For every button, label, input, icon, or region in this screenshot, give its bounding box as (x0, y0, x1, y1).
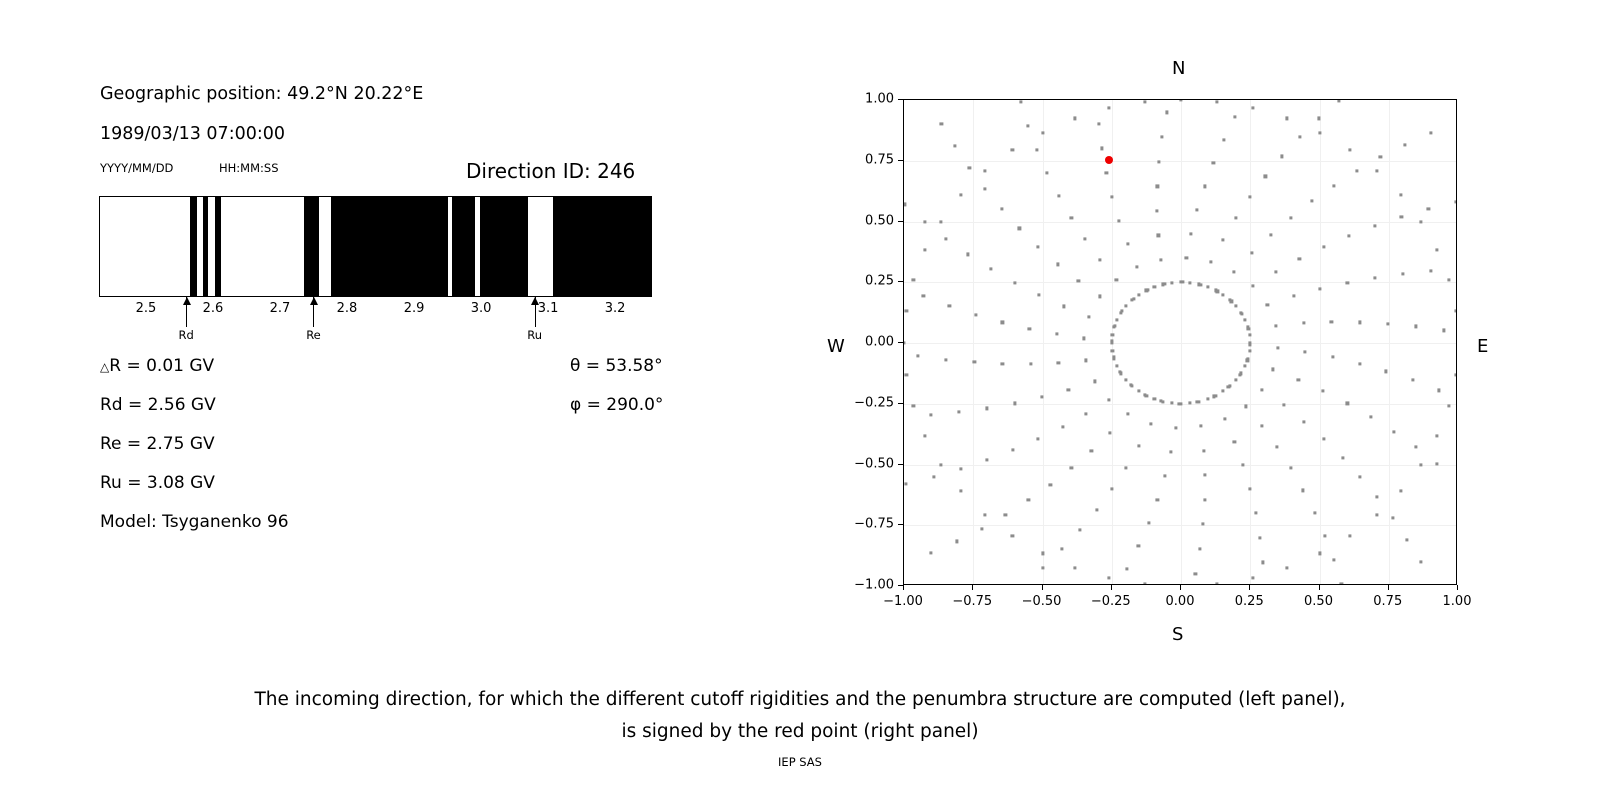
sky-map-direction-dot (1057, 194, 1060, 197)
sky-map-direction-dot (1340, 583, 1343, 585)
datetime-label: 1989/03/13 07:00:00 (100, 124, 285, 144)
sky-map-direction-dot (1221, 238, 1224, 241)
sky-map-direction-dot (1062, 305, 1065, 308)
sky-map-direction-dot (929, 413, 932, 416)
sky-map-direction-dot (1061, 425, 1064, 428)
sky-map-direction-dot (1322, 438, 1325, 441)
sky-map-direction-dot (1234, 378, 1237, 381)
sky-map-direction-dot (1401, 272, 1404, 275)
sky-map-direction-dot (1297, 378, 1300, 381)
sky-map-direction-dot (1373, 224, 1376, 227)
sky-map-direction-dot (967, 253, 970, 256)
sky-map-y-tick-mark (898, 281, 903, 282)
sky-map-x-tick-mark (1249, 585, 1250, 590)
sky-map-direction-dot (1318, 131, 1321, 134)
penumbra-forbidden-band (304, 197, 319, 296)
sky-map-direction-dot (984, 170, 987, 173)
sky-map-direction-dot (912, 404, 915, 407)
sky-map-direction-dot (986, 459, 989, 462)
sky-map-direction-dot (1179, 99, 1182, 102)
sky-map-direction-dot (1302, 489, 1305, 492)
penumbra-chart: 2.52.62.72.82.93.03.13.2RdReRu (99, 196, 652, 297)
caption-line-1: The incoming direction, for which the di… (0, 684, 1600, 716)
sky-map-direction-dot (1107, 398, 1110, 401)
sky-map-direction-dot (1001, 362, 1004, 365)
sky-map-gridline-vertical (1043, 100, 1044, 584)
sky-map-direction-dot (1414, 446, 1417, 449)
sky-map-direction-dot (1411, 379, 1414, 382)
sky-map-direction-dot (1212, 161, 1215, 164)
sky-map-x-tick-label: −1.00 (883, 594, 923, 609)
param-phi: φ = 290.0° (570, 395, 663, 415)
sky-map-direction-dot (1232, 270, 1235, 273)
sky-map-direction-dot (1201, 523, 1204, 526)
sky-map-direction-dot (1126, 413, 1129, 416)
sky-map-direction-dot (1170, 402, 1173, 405)
sky-map-direction-dot (1447, 404, 1450, 407)
sky-map-direction-dot (1056, 263, 1059, 266)
sky-map-direction-dot (1145, 289, 1148, 292)
penumbra-forbidden-band (452, 197, 475, 296)
sky-map-direction-dot (1272, 368, 1275, 371)
sky-map-direction-dot (1011, 449, 1014, 452)
sky-map-x-tick-mark (1111, 585, 1112, 590)
penumbra-forbidden-band (203, 197, 208, 296)
sky-map-direction-dot (1214, 394, 1217, 397)
sky-map-gridline-vertical (1389, 100, 1390, 584)
sky-map-direction-dot (1108, 576, 1111, 579)
sky-map-direction-dot (1391, 516, 1394, 519)
sky-map-x-tick-mark (1042, 585, 1043, 590)
date-format-hint: YYYY/MM/DD (100, 161, 173, 175)
sky-map-direction-dot (1194, 572, 1197, 575)
sky-map-direction-dot (1289, 467, 1292, 470)
sky-map-direction-dot (1061, 547, 1064, 550)
sky-map-direction-dot (1115, 318, 1118, 321)
sky-map-x-tick-mark (972, 585, 973, 590)
sky-map-direction-dot (1260, 425, 1263, 428)
sky-map-direction-dot (1027, 499, 1030, 502)
penumbra-x-tick-label: 3.1 (538, 301, 559, 316)
sky-map-direction-dot (1041, 131, 1044, 134)
sky-map-direction-dot (1090, 449, 1093, 452)
sky-map-direction-dot (1317, 117, 1320, 120)
sky-map-direction-dot (1233, 440, 1236, 443)
sky-map-direction-dot (1156, 185, 1159, 188)
sky-map-direction-dot (1222, 293, 1225, 296)
sky-map-direction-dot (1456, 480, 1457, 483)
sky-map-direction-dot (1248, 349, 1251, 352)
sky-map-direction-dot (1347, 234, 1350, 237)
sky-map-direction-dot (983, 187, 986, 190)
sky-map-direction-dot (1165, 111, 1168, 114)
sky-map-direction-dot (1244, 405, 1247, 408)
sky-map-direction-dot (1100, 147, 1103, 150)
sky-map-direction-dot (1435, 462, 1438, 465)
sky-map-gridline-vertical (1181, 100, 1182, 584)
sky-map-direction-dot (1406, 538, 1409, 541)
sky-map-direction-dot (1143, 582, 1146, 585)
sky-map-y-tick-mark (898, 99, 903, 100)
sky-map-direction-dot (1028, 327, 1031, 330)
sky-map-direction-dot (1375, 170, 1378, 173)
sky-map-x-tick-label: −0.25 (1091, 594, 1131, 609)
sky-map-direction-dot (1280, 155, 1283, 158)
sky-map-direction-dot (948, 304, 951, 307)
sky-map-direction-dot (1313, 511, 1316, 514)
sky-map-direction-dot (1269, 233, 1272, 236)
sky-map-y-tick-mark (898, 221, 903, 222)
sky-map-y-tick-mark (898, 160, 903, 161)
sky-map-direction-dot (1098, 295, 1101, 298)
sky-map-direction-dot (1359, 475, 1362, 478)
sky-map-direction-dot (1125, 466, 1128, 469)
cutoff-marker-label: Re (306, 328, 321, 342)
sky-map-direction-dot (1163, 474, 1166, 477)
sky-map-x-tick-mark (1457, 585, 1458, 590)
sky-map-direction-dot (1285, 117, 1288, 120)
sky-map-direction-dot (1233, 115, 1236, 118)
sky-map-direction-dot (1130, 384, 1133, 387)
sky-map-x-tick-mark (903, 585, 904, 590)
sky-map-direction-dot (1189, 232, 1192, 235)
sky-map-direction-dot (1170, 281, 1173, 284)
sky-map-direction-dot (1145, 394, 1148, 397)
sky-map-direction-dot (1419, 561, 1422, 564)
sky-map-direction-dot (1040, 396, 1043, 399)
penumbra-forbidden-band (331, 197, 448, 296)
compass-north-label: N (1172, 58, 1185, 79)
sky-map-y-tick-label: −0.25 (854, 395, 894, 410)
sky-map-y-tick-label: 0.50 (865, 213, 894, 228)
sky-map-y-tick-label: 0.75 (865, 152, 894, 167)
sky-map-direction-dot (1322, 245, 1325, 248)
sky-map-direction-dot (1099, 258, 1102, 261)
sky-map-direction-dot (1264, 175, 1267, 178)
sky-map-direction-dot (1454, 310, 1457, 313)
compass-west-label: W (827, 336, 845, 357)
sky-map-direction-dot (1404, 143, 1407, 146)
sky-map-direction-dot (1073, 566, 1076, 569)
sky-map-direction-dot (1126, 243, 1129, 246)
sky-map-direction-dot (1252, 285, 1255, 288)
sky-map-x-tick-label: −0.75 (952, 594, 992, 609)
penumbra-x-tick-label: 3.2 (605, 301, 626, 316)
selected-direction-point[interactable] (1105, 156, 1113, 164)
sky-map-direction-dot (1206, 398, 1209, 401)
cutoff-marker-ru (535, 297, 536, 327)
sky-map-direction-dot (1274, 271, 1277, 274)
penumbra-forbidden-band (215, 197, 221, 296)
delta-r-text: R = 0.01 GV (109, 356, 214, 376)
sky-map-direction-dot (1161, 283, 1164, 286)
sky-map-direction-dot (1136, 266, 1139, 269)
sky-map-direction-dot (1375, 495, 1378, 498)
penumbra-x-axis: 2.52.62.72.82.93.03.13.2RdReRu (99, 297, 652, 357)
sky-map-direction-dot (903, 203, 906, 206)
sky-map-direction-dot (1137, 545, 1140, 548)
penumbra-x-tick-label: 2.9 (404, 301, 425, 316)
sky-map-direction-dot (1161, 400, 1164, 403)
sky-map-direction-dot (917, 354, 920, 357)
sky-map-direction-dot (1199, 425, 1202, 428)
sky-map-direction-dot (1118, 219, 1121, 222)
sky-map-x-tick-label: 0.50 (1304, 594, 1333, 609)
sky-map-direction-dot (1248, 487, 1251, 490)
sky-map-direction-dot (1119, 311, 1122, 314)
sky-map-gridline-vertical (1320, 100, 1321, 584)
sky-map-direction-dot (1303, 420, 1306, 423)
sky-map-direction-dot (1087, 315, 1090, 318)
sky-map-direction-dot (1282, 403, 1285, 406)
sky-map-direction-dot (1379, 156, 1382, 159)
sky-map-direction-dot (1241, 464, 1244, 467)
sky-map-direction-dot (1254, 511, 1257, 514)
sky-map-direction-dot (922, 294, 925, 297)
sky-map-y-tick-mark (898, 464, 903, 465)
sky-map-direction-dot (1419, 220, 1422, 223)
sky-map-direction-dot (1246, 326, 1249, 329)
sky-map-direction-dot (940, 220, 943, 223)
sky-map-y-tick-label: 0.00 (865, 335, 894, 350)
param-rd: Rd = 2.56 GV (100, 395, 216, 415)
compass-south-label: S (1172, 624, 1183, 645)
sky-map-direction-dot (923, 434, 926, 437)
sky-map-direction-dot (929, 552, 932, 555)
sky-map-direction-dot (1203, 185, 1206, 188)
sky-map-direction-dot (1027, 124, 1030, 127)
sky-map-direction-dot (968, 166, 971, 169)
sky-map-direction-dot (1000, 208, 1003, 211)
sky-map-direction-dot (1084, 412, 1087, 415)
sky-map-direction-dot (1097, 122, 1100, 125)
geographic-position-label: Geographic position: 49.2°N 20.22°E (100, 84, 423, 104)
sky-map-direction-dot (1249, 341, 1252, 344)
delta-symbol: △ (100, 360, 109, 374)
sky-map-direction-dot (1110, 341, 1113, 344)
sky-map-direction-dot (984, 513, 987, 516)
sky-map-direction-dot (1206, 285, 1209, 288)
sky-map-direction-dot (905, 310, 908, 313)
sky-map-direction-dot (1083, 337, 1086, 340)
sky-map-gridline-horizontal (904, 465, 1456, 466)
sky-map-direction-dot (1332, 184, 1335, 187)
sky-map-x-tick-label: 0.25 (1235, 594, 1264, 609)
sky-map-direction-dot (1337, 99, 1340, 102)
sky-map-direction-dot (1427, 207, 1430, 210)
sky-map-y-tick-label: −0.75 (854, 517, 894, 532)
sky-map-direction-dot (1222, 390, 1225, 393)
sky-map-direction-dot (1400, 215, 1403, 218)
sky-map-direction-dot (1275, 445, 1278, 448)
sky-map-direction-dot (1386, 322, 1389, 325)
sky-map-direction-dot (1036, 148, 1039, 151)
sky-map-direction-dot (1239, 372, 1242, 375)
sky-map-direction-dot (1234, 217, 1237, 220)
sky-map-direction-dot (1156, 209, 1159, 212)
sky-map-direction-dot (1341, 456, 1344, 459)
sky-map-direction-dot (1157, 234, 1160, 237)
sky-map-direction-dot (1119, 372, 1122, 375)
sky-map-direction-dot (1346, 402, 1349, 405)
sky-map-direction-dot (973, 361, 976, 364)
sky-map-direction-dot (1210, 261, 1213, 264)
sky-map-direction-dot (1261, 561, 1264, 564)
sky-map-direction-dot (1113, 326, 1116, 329)
penumbra-forbidden-band (480, 197, 528, 296)
sky-map-direction-dot (1331, 355, 1334, 358)
sky-map-direction-dot (1149, 422, 1152, 425)
sky-map-direction-dot (1153, 285, 1156, 288)
sky-map-direction-dot (955, 540, 958, 543)
penumbra-x-tick-label: 3.0 (471, 301, 492, 316)
sky-map-direction-dot (1298, 135, 1301, 138)
sky-map-direction-dot (1239, 311, 1242, 314)
sky-map-direction-dot (1029, 362, 1032, 365)
sky-map-direction-dot (1442, 329, 1445, 332)
sky-map-direction-dot (1143, 100, 1146, 103)
sky-map-direction-dot (945, 358, 948, 361)
sky-map-direction-dot (1055, 333, 1058, 336)
sky-map-direction-dot (945, 237, 948, 240)
sky-map-direction-dot (1310, 200, 1313, 203)
sky-map-direction-dot (1001, 321, 1004, 324)
sky-map-y-tick-mark (898, 403, 903, 404)
sky-map-direction-dot (1248, 195, 1251, 198)
sky-map-direction-dot (1130, 298, 1133, 301)
sky-map-direction-dot (1248, 333, 1251, 336)
sky-map-direction-dot (1095, 508, 1098, 511)
sky-map-direction-dot (1358, 321, 1361, 324)
sky-map-direction-dot (1274, 324, 1277, 327)
sky-map-plot-area (903, 99, 1457, 585)
sky-map-direction-dot (1198, 547, 1201, 550)
sky-map-direction-dot (1169, 450, 1172, 453)
sky-map-direction-dot (932, 475, 935, 478)
sky-map-y-tick-label: 0.25 (865, 274, 894, 289)
param-ru: Ru = 3.08 GV (100, 473, 215, 493)
sky-map-direction-dot (923, 248, 926, 251)
sky-map-direction-dot (1113, 357, 1116, 360)
sky-map-gridline-horizontal (904, 222, 1456, 223)
sky-map-direction-dot (904, 482, 907, 485)
sky-map-direction-dot (1414, 325, 1417, 328)
sky-map-direction-dot (940, 122, 943, 125)
sky-map-direction-dot (923, 220, 926, 223)
sky-map-x-tick-mark (1180, 585, 1181, 590)
sky-map-direction-dot (1369, 415, 1372, 418)
sky-map-direction-dot (1228, 384, 1231, 387)
sky-map-x-tick-mark (1388, 585, 1389, 590)
sky-map-direction-dot (960, 489, 963, 492)
sky-map-direction-dot (1385, 370, 1388, 373)
sky-map-direction-dot (1216, 582, 1219, 585)
sky-map-direction-dot (1197, 283, 1200, 286)
penumbra-forbidden-band (553, 197, 652, 296)
compass-east-label: E (1477, 336, 1488, 357)
sky-map-direction-dot (1159, 258, 1162, 261)
cutoff-marker-label: Rd (178, 328, 193, 342)
sky-map-direction-dot (1322, 389, 1325, 392)
sky-map-direction-dot (1456, 341, 1457, 344)
sky-map-direction-dot (1115, 365, 1118, 368)
sky-map-direction-dot (1115, 278, 1118, 281)
sky-map-direction-dot (1222, 138, 1225, 141)
sky-map-direction-dot (1013, 402, 1016, 405)
sky-map-direction-dot (1041, 552, 1044, 555)
sky-map-direction-dot (1004, 513, 1007, 516)
sky-map-direction-dot (1037, 245, 1040, 248)
penumbra-plot-area (99, 196, 652, 297)
sky-map-direction-dot (1399, 193, 1402, 196)
sky-map-direction-dot (1077, 279, 1080, 282)
sky-map-direction-dot (1185, 256, 1188, 259)
sky-map-gridline-horizontal (904, 343, 1456, 344)
sky-map-direction-dot (1355, 169, 1358, 172)
sky-map-gridline-horizontal (904, 525, 1456, 526)
sky-map-direction-dot (1266, 303, 1269, 306)
sky-map-direction-dot (1437, 389, 1440, 392)
sky-map-direction-dot (1124, 304, 1127, 307)
sky-map-direction-dot (1037, 438, 1040, 441)
sky-map-direction-dot (1223, 417, 1226, 420)
sky-map-y-tick-label: 1.00 (865, 92, 894, 107)
sky-map-direction-dot (1011, 149, 1014, 152)
sky-map-direction-dot (1070, 467, 1073, 470)
sky-map-direction-dot (1179, 402, 1182, 405)
sky-map-direction-dot (1323, 535, 1326, 538)
sky-map-direction-dot (905, 373, 908, 376)
sky-map-direction-dot (1455, 201, 1457, 204)
sky-map-direction-dot (1037, 293, 1040, 296)
sky-map-direction-dot (1276, 346, 1279, 349)
sky-map-direction-dot (986, 407, 989, 410)
sky-map-direction-dot (1179, 281, 1182, 284)
sky-map-direction-dot (1019, 100, 1022, 103)
sky-map-direction-dot (959, 468, 962, 471)
sky-map-direction-dot (903, 341, 906, 344)
sky-map-direction-dot (1111, 195, 1114, 198)
sky-map-direction-dot (940, 463, 943, 466)
sky-map-x-tick-label: −0.50 (1022, 594, 1062, 609)
sky-map-direction-dot (1195, 209, 1198, 212)
param-delta-r: △R = 0.01 GV (100, 356, 214, 376)
sky-map-direction-dot (1011, 534, 1014, 537)
sky-map-direction-dot (1093, 380, 1096, 383)
footer-credit: IEP SAS (0, 755, 1600, 769)
sky-map-direction-dot (1158, 160, 1161, 163)
time-format-hint: HH:MM:SS (219, 161, 279, 175)
sky-map-direction-dot (1348, 534, 1351, 537)
sky-map-direction-dot (1435, 248, 1438, 251)
sky-map-direction-dot (1042, 566, 1045, 569)
param-theta: θ = 53.58° (570, 356, 663, 376)
sky-map-direction-dot (958, 411, 961, 414)
sky-map-direction-dot (1228, 298, 1231, 301)
sky-map-gridline-horizontal (904, 161, 1456, 162)
direction-id-label: Direction ID: 246 (466, 159, 635, 183)
sky-map-direction-dot (1111, 487, 1114, 490)
sky-map-direction-dot (1419, 463, 1422, 466)
sky-map-direction-dot (1057, 361, 1060, 364)
sky-map-x-tick-label: 0.00 (1166, 594, 1195, 609)
sky-map-direction-dot (953, 145, 956, 148)
sky-map-direction-dot (1197, 400, 1200, 403)
sky-map-direction-dot (1111, 333, 1114, 336)
sky-map-direction-dot (1285, 566, 1288, 569)
sky-map-direction-dot (990, 267, 993, 270)
sky-map-direction-dot (1429, 269, 1432, 272)
